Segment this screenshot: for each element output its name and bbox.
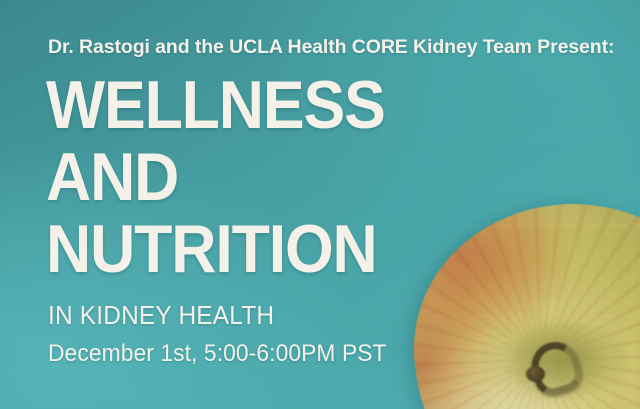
headline-line-1: WELLNESS [46,76,385,134]
flyer-text-block: Dr. Rastogi and the UCLA Health CORE Kid… [48,0,608,409]
presenter-kicker: Dr. Rastogi and the UCLA Health CORE Kid… [48,36,614,59]
webinar-flyer: Dr. Rastogi and the UCLA Health CORE Kid… [0,0,640,409]
subheadline: IN KIDNEY HEALTH [48,300,274,331]
headline-line-3: NUTRITION [46,220,377,278]
headline-line-2: AND [46,148,178,206]
event-datetime: December 1st, 5:00-6:00PM PST [48,340,387,368]
